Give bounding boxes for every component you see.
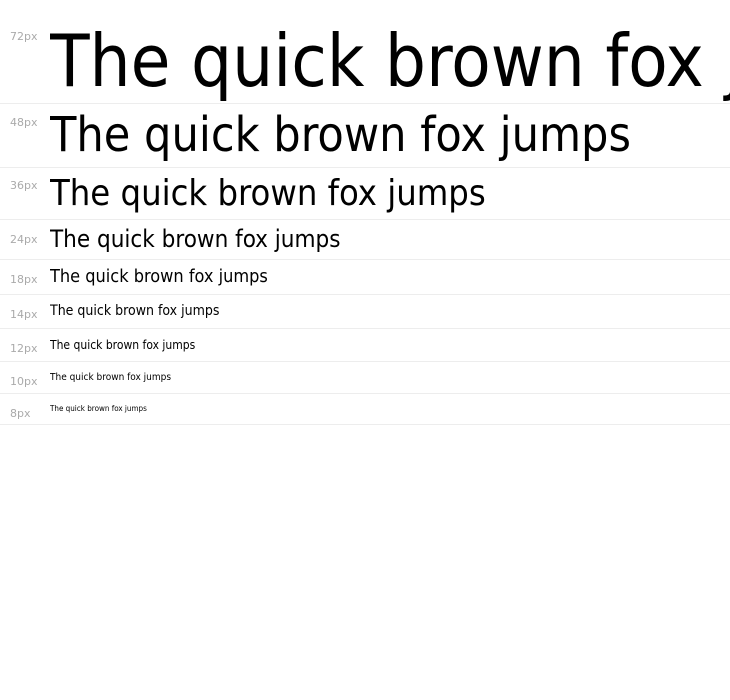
specimen-row-8px: 8px The quick brown fox jumps (0, 394, 730, 425)
sample-text-10px: The quick brown fox jumps (50, 362, 730, 393)
size-label-cell-48px: 48px (0, 104, 50, 168)
size-label-8px: 8px (0, 394, 50, 419)
sample-cell-72px: The quick brown fox jumps (50, 19, 730, 104)
specimen-row-18px: 18px The quick brown fox jumps (0, 260, 730, 295)
specimen-table-body: 72px The quick brown fox jumps 48px The … (0, 19, 730, 425)
font-specimen-container: 72px The quick brown fox jumps 48px The … (0, 19, 730, 425)
size-label-10px: 10px (0, 362, 50, 387)
sample-cell-18px: The quick brown fox jumps (50, 260, 730, 295)
sample-cell-8px: The quick brown fox jumps (50, 394, 730, 425)
sample-cell-14px: The quick brown fox jumps (50, 295, 730, 329)
sample-text-18px: The quick brown fox jumps (50, 260, 730, 294)
sample-text-14px: The quick brown fox jumps (50, 295, 730, 328)
specimen-row-72px: 72px The quick brown fox jumps (0, 19, 730, 104)
sample-cell-48px: The quick brown fox jumps (50, 104, 730, 168)
specimen-row-24px: 24px The quick brown fox jumps (0, 220, 730, 260)
size-label-cell-14px: 14px (0, 295, 50, 329)
size-label-24px: 24px (0, 220, 50, 245)
sample-cell-10px: The quick brown fox jumps (50, 362, 730, 394)
specimen-row-36px: 36px The quick brown fox jumps (0, 168, 730, 220)
size-label-cell-24px: 24px (0, 220, 50, 260)
sample-text-48px: The quick brown fox jumps (50, 104, 730, 167)
specimen-row-10px: 10px The quick brown fox jumps (0, 362, 730, 394)
sample-text-36px: The quick brown fox jumps (50, 168, 730, 219)
size-label-cell-12px: 12px (0, 329, 50, 362)
size-label-cell-18px: 18px (0, 260, 50, 295)
specimen-row-14px: 14px The quick brown fox jumps (0, 295, 730, 329)
size-label-14px: 14px (0, 295, 50, 320)
sample-cell-24px: The quick brown fox jumps (50, 220, 730, 260)
size-label-cell-8px: 8px (0, 394, 50, 425)
sample-text-12px: The quick brown fox jumps (50, 329, 730, 361)
size-label-48px: 48px (0, 104, 50, 128)
specimen-row-12px: 12px The quick brown fox jumps (0, 329, 730, 362)
size-label-cell-10px: 10px (0, 362, 50, 394)
size-label-cell-36px: 36px (0, 168, 50, 220)
sample-text-8px: The quick brown fox jumps (50, 394, 730, 424)
size-label-72px: 72px (0, 19, 50, 42)
sample-cell-36px: The quick brown fox jumps (50, 168, 730, 220)
size-label-cell-72px: 72px (0, 19, 50, 104)
size-label-36px: 36px (0, 168, 50, 191)
sample-text-24px: The quick brown fox jumps (50, 220, 730, 259)
sample-cell-12px: The quick brown fox jumps (50, 329, 730, 362)
specimen-row-48px: 48px The quick brown fox jumps (0, 104, 730, 168)
size-label-18px: 18px (0, 260, 50, 285)
sample-text-72px: The quick brown fox jumps (50, 19, 730, 103)
font-size-specimen-table: 72px The quick brown fox jumps 48px The … (0, 19, 730, 425)
size-label-12px: 12px (0, 329, 50, 354)
